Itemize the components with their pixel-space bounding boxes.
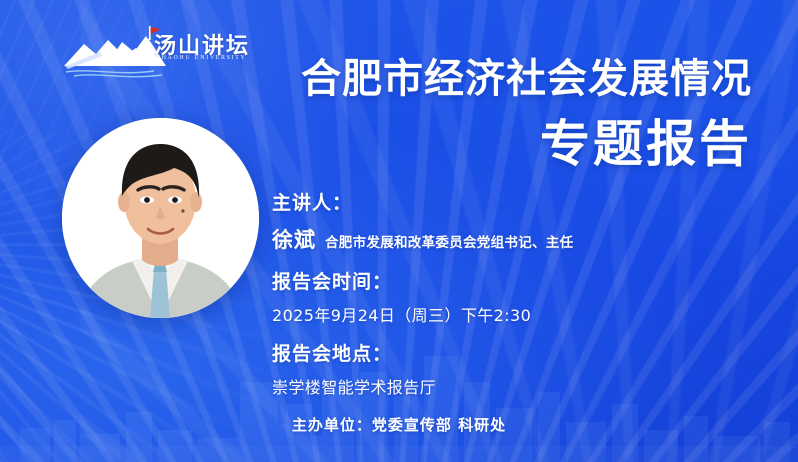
speaker-title: 合肥市发展和改革委员会党组书记、主任: [325, 231, 573, 251]
organizer-line: 主办单位：党委宣传部 科研处: [0, 414, 798, 435]
event-poster: 汤山讲坛 CHAOHU UNIVERSITY 合肥市经济社会发展情况 专题报告: [0, 0, 798, 462]
mountain-shape: [64, 36, 166, 69]
time-value: 2025年9月24日（周三）下午2:30: [272, 302, 702, 326]
speaker-label: 主讲人：: [272, 188, 702, 215]
speaker-portrait: [62, 118, 259, 318]
time-label: 报告会时间：: [272, 267, 702, 294]
poster-headline: 合肥市经济社会发展情况 专题报告: [152, 58, 752, 171]
headline-line-1: 合肥市经济社会发展情况: [152, 58, 752, 101]
event-details: 主讲人： 徐斌 合肥市发展和改革委员会党组书记、主任 报告会时间： 2025年9…: [272, 188, 702, 398]
place-label: 报告会地点：: [272, 339, 702, 366]
place-value: 崇学楼智能学术报告厅: [272, 374, 702, 398]
wave-lines: [66, 71, 162, 77]
speaker-row: 徐斌 合肥市发展和改革委员会党组书记、主任: [272, 224, 702, 254]
speaker-name: 徐斌: [272, 224, 316, 254]
